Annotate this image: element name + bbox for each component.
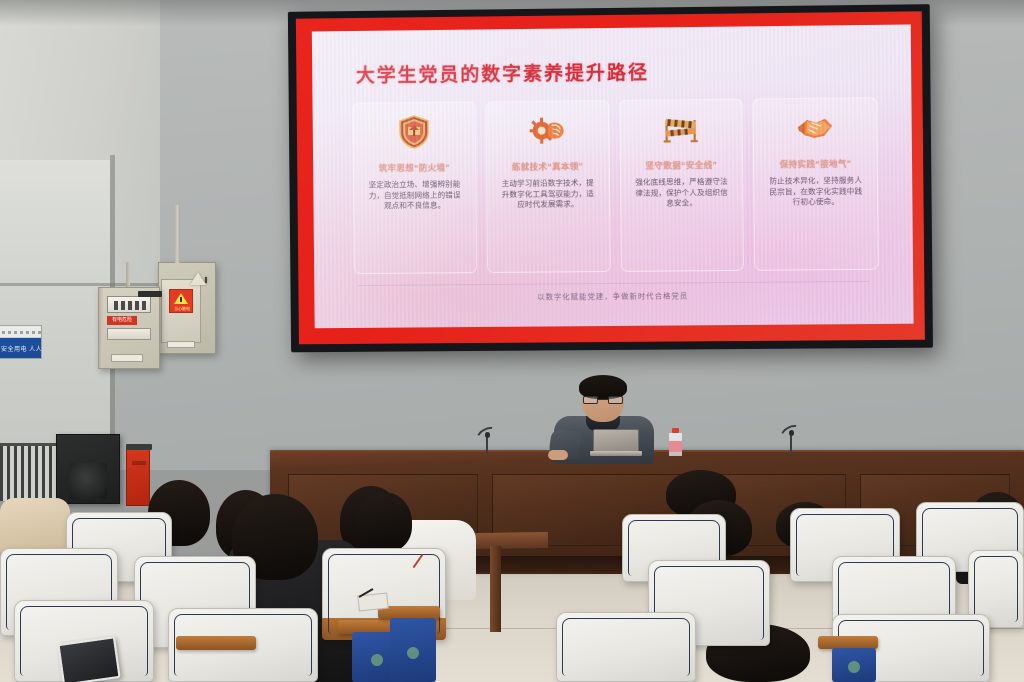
slide-title: 大学生党员的数字素养提升路径 (356, 58, 649, 88)
audience-head (356, 492, 412, 552)
card-title: 保持实践“接地气” (779, 158, 851, 171)
glasses-icon (583, 396, 623, 404)
side-table-leg (490, 546, 501, 632)
seat-armrest (176, 636, 256, 650)
panel-handle (138, 291, 162, 297)
slide-footer: 以数字化赋能党建，争做新时代合格党员 (314, 289, 913, 305)
wall-conduit (175, 205, 180, 263)
card-title: 坚守数据“安全线” (645, 159, 717, 172)
extinguisher-lid (126, 444, 152, 450)
bottle-label (669, 441, 682, 452)
auditorium-seat[interactable] (556, 612, 696, 682)
seat-side-panel (832, 648, 876, 682)
extinguisher-slot (132, 461, 146, 465)
bottle-cap (672, 428, 679, 433)
warning-triangle-icon (174, 293, 188, 304)
wall-conduit-lower (126, 262, 130, 288)
wall-seam (0, 283, 160, 286)
sign-text: 安全用电 人人有责 (1, 346, 42, 354)
slide-card-3: 坚守数据“安全线” 强化底线思维，严格遵守法律法规，保护个人及组织信息安全。 (619, 99, 745, 272)
danger-label: 有电危险 (107, 316, 137, 325)
slide-divider (358, 281, 869, 286)
lecture-hall-photo: 安全用电 人人有责 当心触电 有电危险 大学生党员的数字素养提升路径 (0, 0, 1024, 682)
electrical-panel-right: 当心触电 (158, 262, 216, 354)
seat-side-panel (390, 618, 436, 682)
panel-tag (111, 354, 143, 362)
slide-card-2: 练就技术“真本领” 主动学习前沿数字技术，提升数字化工具驾驭能力，适应时代发展需… (485, 100, 610, 273)
meter-display (107, 296, 151, 313)
water-bottle (669, 428, 682, 456)
card-body: 防止技术异化，坚持服务人民宗旨，在数字化实践中践行初心使命。 (754, 175, 877, 208)
laptop-screen (593, 429, 639, 452)
slide-card-1: 筑牢思想“防火墙” 坚定政治立场、增强辨别能力，自觉抵制网络上的错误观点和不良信… (352, 101, 477, 274)
warning-text: 当心触电 (171, 306, 193, 311)
handshake-icon (796, 110, 835, 146)
barrier-icon (662, 111, 700, 147)
breaker-row (107, 328, 151, 340)
laptop (590, 429, 642, 455)
projection-screen: 大学生党员的数字素养提升路径 (288, 4, 933, 352)
slide-card-row: 筑牢思想“防火墙” 坚定政治立场、增强辨别能力，自觉抵制网络上的错误观点和不良信… (352, 97, 879, 274)
card-body: 坚定政治立场、增强辨别能力，自觉抵制网络上的错误观点和不良信息。 (354, 179, 475, 212)
slide-red-border: 大学生党员的数字素养提升路径 (296, 11, 925, 344)
fire-extinguisher-cabinet (126, 448, 150, 506)
brain-gear-icon (528, 112, 566, 148)
warning-triangle-icon-small (190, 272, 206, 285)
left-wall-panel (0, 160, 112, 470)
shield-icon (395, 114, 433, 150)
card-body: 强化底线思维，严格遵守法律法规，保护个人及组织信息安全。 (620, 177, 742, 210)
electric-warning-icon: 当心触电 (169, 289, 193, 313)
electrical-panel-left: 有电危险 (98, 287, 160, 369)
sign-top-stripe (2, 331, 42, 334)
slide-card-4: 保持实践“接地气” 防止技术异化，坚持服务人民宗旨，在数字化实践中践行初心使命。 (753, 97, 879, 271)
card-title: 练就技术“真本领” (512, 160, 584, 173)
tablet-device[interactable] (57, 636, 120, 682)
panel-hinge (99, 288, 103, 368)
presentation-slide: 大学生党员的数字素养提升路径 (312, 24, 914, 328)
laptop-base (590, 451, 642, 456)
speaker-cone (69, 463, 107, 499)
panel-warning-icon (190, 272, 206, 287)
card-body: 主动学习前沿数字技术，提升数字化工具驾驭能力，适应时代发展需求。 (487, 178, 609, 211)
card-title: 筑牢思想“防火墙” (379, 162, 450, 175)
presenter-hand (548, 450, 568, 460)
loudspeaker (56, 434, 120, 504)
blue-safety-sign: 安全用电 人人有责 (0, 325, 42, 359)
panel-nameplate (167, 341, 195, 348)
